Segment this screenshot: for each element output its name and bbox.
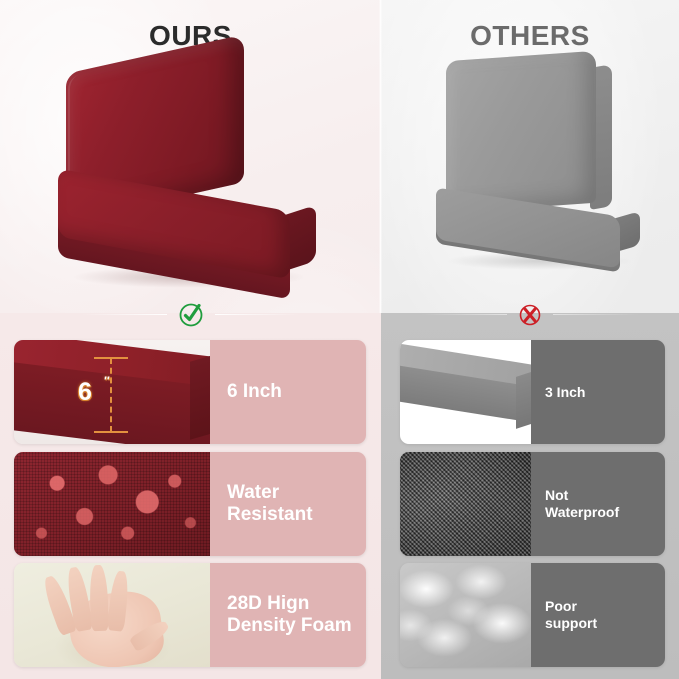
comparison-infographic: OURS OTHERS	[0, 0, 679, 679]
verdict-rule-right	[553, 314, 639, 315]
cushion-side-edge	[516, 371, 531, 429]
ours-feature-card-foam: 28D HignDensity Foam	[14, 563, 366, 667]
verdict-rule-left	[421, 314, 507, 315]
hand-finger	[89, 565, 109, 632]
others-heading: OTHERS	[381, 20, 679, 52]
others-thickness-thumbnail	[400, 340, 531, 444]
ours-cushion-image	[48, 52, 338, 297]
cushion-side-edge	[190, 354, 210, 439]
ours-foam-thumbnail	[14, 563, 210, 667]
ours-feature-card-water: WaterResistant	[14, 452, 366, 556]
others-fiber-thumbnail	[400, 563, 531, 667]
others-verdict-row	[381, 297, 679, 331]
others-feature-card-water: NotWaterproof	[400, 452, 665, 556]
others-support-label: Poorsupport	[531, 563, 665, 667]
check-circle-icon	[176, 299, 206, 329]
ours-water-label: WaterResistant	[210, 452, 366, 556]
ours-verdict-row	[0, 297, 381, 331]
dimension-line	[110, 358, 112, 432]
verdict-rule-left	[81, 314, 167, 315]
others-mesh-thumbnail	[400, 452, 531, 556]
ours-water-thumbnail	[14, 452, 210, 556]
ours-foam-label: 28D HignDensity Foam	[210, 563, 366, 667]
others-feature-card-thickness: 3 Inch	[400, 340, 665, 444]
others-water-label: NotWaterproof	[531, 452, 665, 556]
others-thickness-label: 3 Inch	[531, 340, 665, 444]
others-back-cushion	[446, 51, 596, 213]
others-cushion-image	[424, 54, 654, 294]
ours-thickness-thumbnail: 6 ″	[14, 340, 210, 444]
dimension-unit: ″	[104, 374, 110, 388]
x-circle-icon	[516, 300, 544, 328]
ours-thickness-label: 6 Inch	[210, 340, 366, 444]
verdict-rule-right	[215, 314, 301, 315]
ours-feature-card-thickness: 6 ″ 6 Inch	[14, 340, 366, 444]
dimension-value: 6	[78, 378, 92, 407]
others-feature-card-support: Poorsupport	[400, 563, 665, 667]
